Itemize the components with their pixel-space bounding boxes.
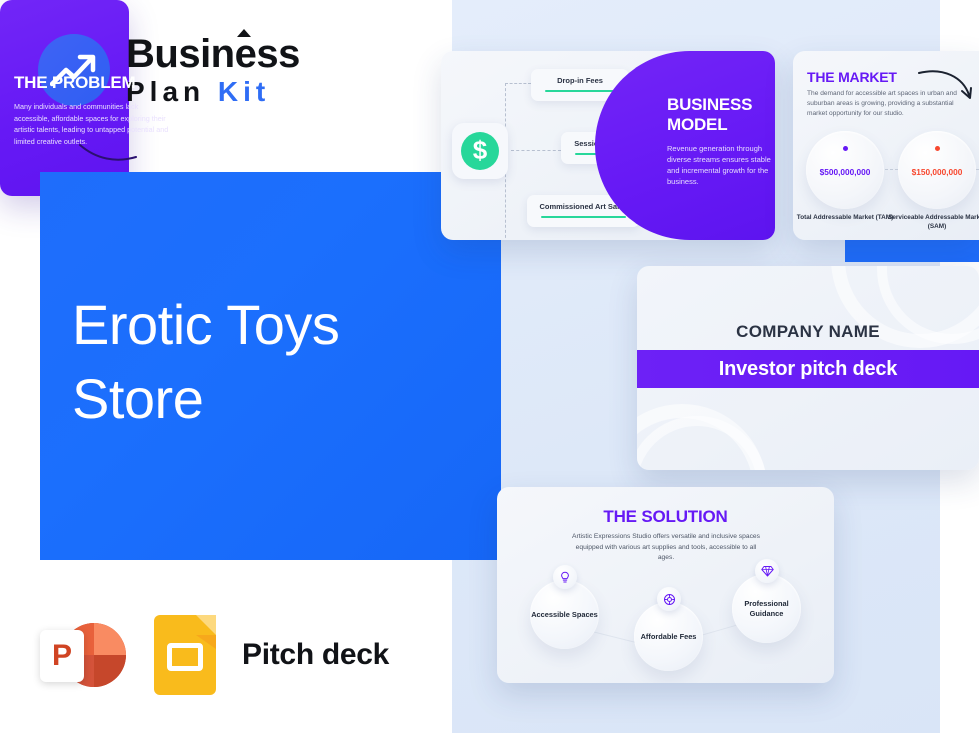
diamond-icon [755,559,779,583]
market-description: The demand for accessible art spaces in … [807,89,967,119]
business-model-description: Revenue generation through diverse strea… [667,143,775,187]
market-metric-tam[interactable]: $500,000,000 [806,131,884,209]
powerpoint-icon: P [40,612,126,698]
lightbulb-icon [553,565,577,589]
logo-line-1: Business [126,34,300,74]
metric-connector [885,169,898,170]
market-metric-caption: Serviceable Addressable Market (SAM) [887,213,979,231]
slide-cover[interactable]: COMPANY NAME Investor pitch deck [637,266,979,470]
market-title: THE MARKET [807,69,897,85]
format-row: P Pitch deck [40,612,389,698]
problem-title: THE PROBLEM [14,73,136,93]
business-model-panel: BUSINESS MODEL Revenue generation throug… [595,51,775,240]
connector-top [505,83,531,84]
connector-mid [511,150,561,151]
market-metric-sam[interactable]: $150,000,000 [898,131,976,209]
solution-description: Artistic Expressions Studio offers versa… [572,532,760,564]
cover-subtitle: Investor pitch deck [719,358,897,381]
problem-description: Many individuals and communities lack ac… [14,101,174,147]
solution-title: THE SOLUTION [497,507,834,527]
dollar-icon: $ [452,123,508,179]
logo-kit-word: Kit [218,76,270,107]
logo-circumflex-icon [237,29,251,37]
business-model-title: BUSINESS MODEL [667,95,775,135]
slide-the-solution[interactable]: THE SOLUTION Artistic Expressions Studio… [497,487,834,683]
powerpoint-letter: P [40,630,84,682]
swoosh-decor-icon [78,143,138,170]
format-label: Pitch deck [242,638,389,672]
brand-logo: Business Plan Kit [38,34,300,106]
slide-the-market[interactable]: THE MARKET The demand for accessible art… [793,51,979,240]
google-slides-icon [154,615,216,695]
accent-bar [845,240,979,262]
node-connector [697,624,740,637]
node-connector [593,631,640,644]
market-metric-caption: Total Addressable Market (TAM) [795,213,895,222]
solution-node[interactable]: Affordable Fees [634,602,703,671]
page-title: Erotic Toys Store [72,288,472,436]
poster-canvas: Business Plan Kit Erotic Toys Store P Pi… [0,0,979,733]
target-icon [657,587,681,611]
company-name: COMPANY NAME [637,322,979,342]
cover-band: Investor pitch deck [637,350,979,388]
slide-business-model[interactable]: $ Drop-in Fees Session Workshops Commiss… [441,51,775,240]
growth-arrow-icon [38,34,110,106]
solution-node[interactable]: Professional Guidance [732,574,801,643]
solution-node[interactable]: Accessible Spaces [530,580,599,649]
